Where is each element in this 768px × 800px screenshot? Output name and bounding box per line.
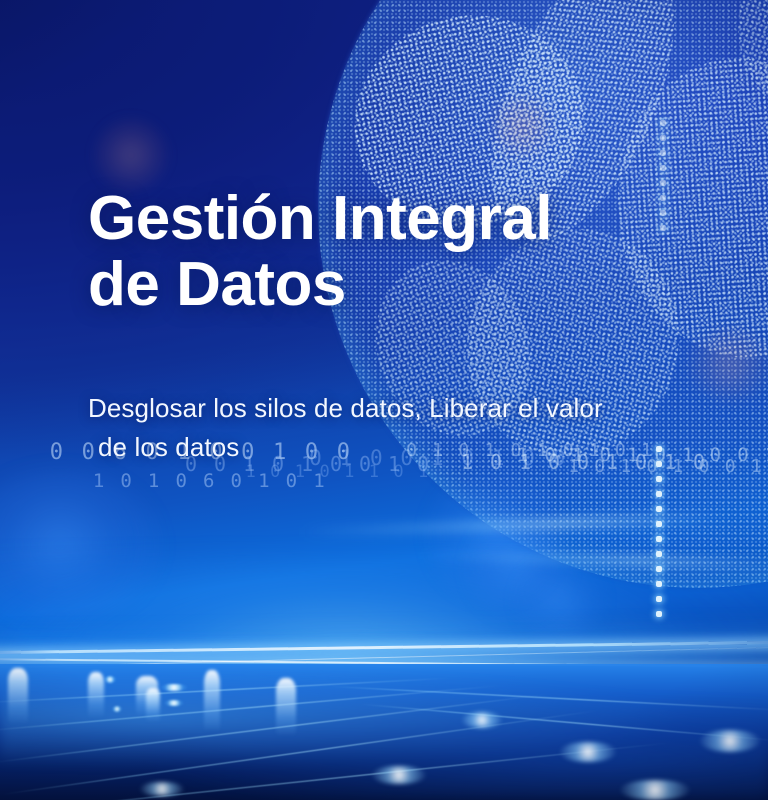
light-pillar <box>8 668 28 724</box>
light-pillar <box>204 670 220 732</box>
lens-flare <box>96 120 166 190</box>
ground-spark <box>160 684 188 691</box>
page-subtitle-line-1: Desglosar los silos de datos, Liberar el… <box>88 393 603 423</box>
ground-glow <box>462 712 502 728</box>
page-title: Gestión Integral de Datos <box>88 186 698 317</box>
ground-glow <box>372 766 426 784</box>
ground-glow <box>560 742 616 762</box>
light-pillar <box>88 672 104 718</box>
lens-flare <box>492 96 552 156</box>
ground-spark <box>104 676 116 683</box>
ground-glow <box>700 730 760 752</box>
light-pillar <box>276 678 296 736</box>
light-pillar <box>146 688 160 722</box>
ground-glow <box>620 780 690 800</box>
page-subtitle: Desglosar los silos de datos, Liberar el… <box>88 317 698 507</box>
hero-banner: 0106101001601011010110010101100100101061… <box>0 0 768 800</box>
ground-glow <box>140 782 184 796</box>
page-subtitle-line-2: de los datos <box>88 428 698 468</box>
hero-copy: Gestión Integral de Datos Desglosar los … <box>88 186 698 508</box>
lens-flare <box>690 330 768 400</box>
ground-spark <box>164 700 184 706</box>
ground-spark <box>112 706 122 712</box>
